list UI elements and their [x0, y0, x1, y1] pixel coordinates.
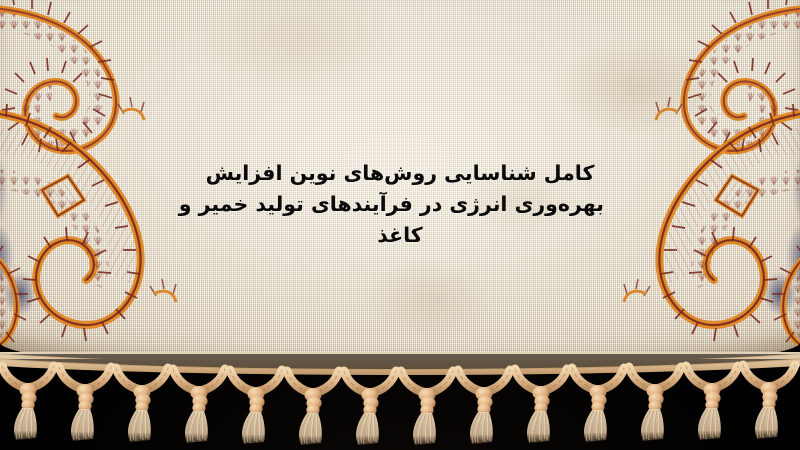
stitch-spikes	[0, 0, 114, 152]
slide-canvas: کامل شناسایی روش‌های نوین افزایش بهره‌ور…	[0, 0, 800, 450]
ornament-sprigs	[624, 97, 682, 302]
title-line-1: کامل شناسایی روش‌های نوین افزایش	[196, 158, 604, 189]
ornament-lower-tail	[0, 222, 28, 356]
page-title: کامل شناسایی روش‌های نوین افزایش بهره‌ور…	[196, 158, 604, 251]
stitch-spikes	[660, 97, 800, 341]
ornament-sprig-accents	[122, 109, 176, 302]
cloth-hem-selvedge	[0, 352, 800, 372]
ornament-main-paisley	[0, 97, 141, 341]
title-line-3: کاغذ	[196, 220, 604, 251]
navy-ink-smudges	[0, 26, 36, 316]
stitch-spikes	[0, 97, 140, 341]
stitch-spikes	[686, 0, 800, 152]
ornament-main-paisley	[659, 97, 800, 341]
ornament-sprigs	[118, 97, 176, 302]
title-line-2: بهره‌وری انرژی در فرآیندهای تولید خمیر و	[196, 189, 604, 220]
ornament-upper-scroll	[0, 0, 116, 152]
navy-ink-smudges	[764, 26, 800, 316]
ornament-sprig-accents	[624, 109, 678, 302]
ornament-lower-tail	[772, 222, 800, 356]
ornament-upper-scroll	[684, 0, 800, 152]
